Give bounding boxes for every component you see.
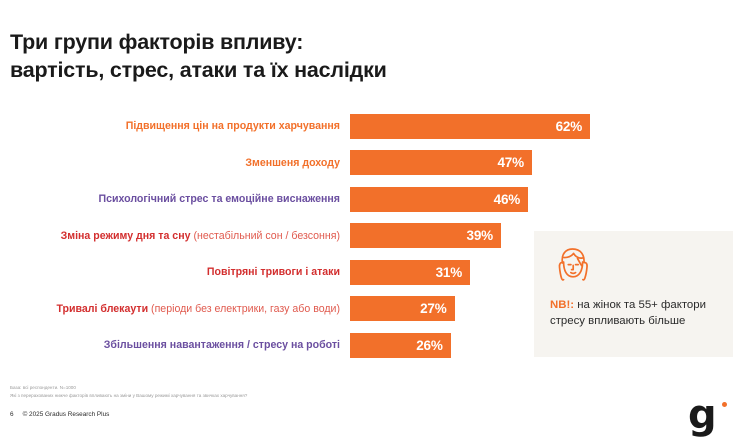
- page-number: 6: [10, 411, 14, 418]
- chart-bar-track: 62%: [350, 108, 742, 145]
- chart-bar-value: 39%: [467, 228, 493, 243]
- chart-bar-value: 26%: [416, 338, 442, 353]
- logo-letter: g: [688, 392, 716, 438]
- chart-row-label-note: (нестабільний сон / безсоння): [191, 230, 341, 242]
- chart-bar-value: 47%: [498, 155, 524, 170]
- chart-row-label-main: Підвищення цін на продукти харчування: [126, 120, 340, 132]
- nb-callout-box: NB!: на жінок та 55+ фактори стресу впли…: [534, 231, 733, 357]
- chart-bar-value: 31%: [436, 265, 462, 280]
- chart-bar: 39%: [350, 223, 501, 248]
- chart-bar: 47%: [350, 150, 532, 175]
- footer-bar: 6 © 2025 Gradus Research Plus: [10, 411, 109, 418]
- chart-bar-value: 62%: [556, 119, 582, 134]
- footnote-base: База: всі респонденти. N=1000: [10, 384, 530, 392]
- title-line-1: Три групи факторів впливу:: [10, 28, 650, 56]
- chart-bar-track: 47%: [350, 145, 742, 182]
- page-title: Три групи факторів впливу: вартість, стр…: [10, 28, 650, 85]
- chart-bar: 62%: [350, 114, 590, 139]
- chart-row-label-main: Зменшеня доходу: [245, 157, 340, 169]
- chart-row: Психологічний стрес та емоційне виснажен…: [0, 181, 742, 218]
- chart-row-label-main: Тривалі блекаути: [56, 303, 148, 315]
- nb-callout-text: NB!: на жінок та 55+ фактори стресу впли…: [550, 298, 717, 329]
- logo-dot: [722, 402, 727, 407]
- chart-row: Підвищення цін на продукти харчування62%: [0, 108, 742, 145]
- chart-row-label-main: Повітряні тривоги і атаки: [207, 266, 340, 278]
- chart-bar-track: 46%: [350, 181, 742, 218]
- chart-row-label: Психологічний стрес та емоційне виснажен…: [0, 193, 350, 205]
- title-line-2: вартість, стрес, атаки та їх наслідки: [10, 56, 650, 84]
- slide-canvas: Три групи факторів впливу: вартість, стр…: [0, 0, 742, 448]
- chart-bar: 26%: [350, 333, 451, 358]
- chart-bar: 46%: [350, 187, 528, 212]
- chart-row-label-note: (періоди без електрики, газу або води): [148, 303, 340, 315]
- footnotes: База: всі респонденти. N=1000 Які з пере…: [10, 384, 530, 399]
- chart-row-label-main: Збільшення навантаження / стресу на робо…: [104, 339, 340, 351]
- chart-row-label: Підвищення цін на продукти харчування: [0, 120, 350, 132]
- chart-bar-value: 46%: [494, 192, 520, 207]
- chart-row: Зменшеня доходу47%: [0, 145, 742, 182]
- chart-bar: 31%: [350, 260, 470, 285]
- woman-face-icon: [550, 245, 596, 289]
- chart-bar-value: 27%: [420, 301, 446, 316]
- chart-row-label: Збільшення навантаження / стресу на робо…: [0, 339, 350, 351]
- chart-row-label: Повітряні тривоги і атаки: [0, 266, 350, 278]
- chart-row-label: Зміна режиму дня та сну (нестабільний со…: [0, 230, 350, 242]
- chart-row-label: Тривалі блекаути (періоди без електрики,…: [0, 303, 350, 315]
- copyright-text: © 2025 Gradus Research Plus: [23, 411, 110, 418]
- chart-row-label-main: Психологічний стрес та емоційне виснажен…: [98, 193, 340, 205]
- gradus-logo: g: [688, 396, 728, 438]
- chart-bar: 27%: [350, 296, 455, 321]
- chart-row-label-main: Зміна режиму дня та сну: [61, 230, 191, 242]
- chart-row-label: Зменшеня доходу: [0, 157, 350, 169]
- footnote-question: Які з перерахованих нижче факторів вплив…: [10, 392, 530, 400]
- nb-mark: NB!:: [550, 299, 574, 311]
- nb-message: на жінок та 55+ фактори стресу впливають…: [550, 299, 706, 327]
